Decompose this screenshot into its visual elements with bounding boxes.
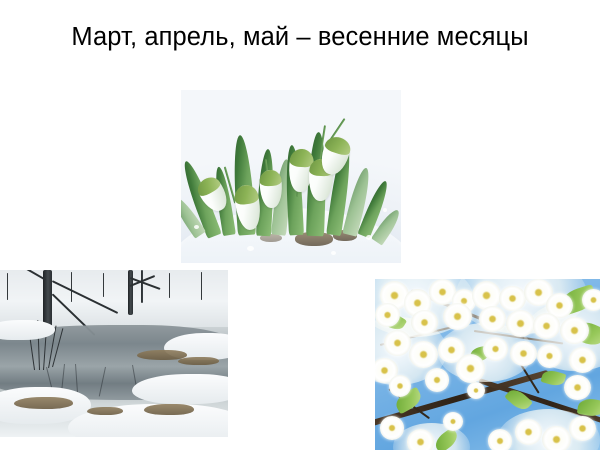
image-melting-snow-thaw-landscape[interactable] bbox=[0, 270, 228, 437]
blossom-flower bbox=[479, 306, 506, 332]
blossom-flower bbox=[542, 426, 571, 450]
green-leaf bbox=[540, 368, 565, 387]
blossom-flower bbox=[569, 347, 596, 373]
mud-patch bbox=[87, 407, 123, 415]
blossom-flower bbox=[443, 303, 472, 330]
blossom-flower bbox=[380, 416, 405, 440]
blossom-flower bbox=[569, 416, 596, 442]
blossom-flower bbox=[384, 330, 411, 356]
blossom-flower bbox=[389, 375, 412, 397]
distant-tree bbox=[71, 272, 73, 302]
snowdrop-flower-tip bbox=[259, 169, 282, 186]
blossom-flower bbox=[506, 310, 535, 337]
blossom-flower bbox=[537, 344, 562, 368]
blossom-flower bbox=[425, 368, 450, 392]
mud-patch bbox=[178, 357, 219, 365]
snow-sparkle bbox=[383, 208, 387, 212]
blossom-flower bbox=[375, 303, 400, 327]
mud-patch bbox=[144, 404, 194, 416]
distant-tree bbox=[201, 272, 203, 300]
blossom-flower bbox=[510, 341, 537, 367]
image-snowdrops-in-snow[interactable] bbox=[181, 90, 401, 263]
blossom-flower bbox=[564, 375, 591, 401]
snow-sparkle bbox=[331, 251, 336, 255]
blossom-flower bbox=[533, 313, 560, 339]
blossom-flower bbox=[483, 337, 508, 361]
slide-title: Март, апрель, май – весенние месяцы bbox=[0, 20, 600, 55]
blossom-flower bbox=[443, 412, 463, 431]
snowdrop-flower-tip bbox=[323, 134, 353, 157]
blossom-flower bbox=[472, 281, 501, 310]
blossom-flower bbox=[560, 317, 589, 344]
blossom-flower bbox=[515, 419, 542, 445]
image-white-blossom-against-blue-sky[interactable] bbox=[375, 279, 600, 450]
distant-tree bbox=[169, 273, 171, 298]
distant-tree bbox=[103, 273, 105, 296]
blossom-flower bbox=[582, 289, 600, 311]
blossom-flower bbox=[467, 382, 485, 399]
mud-patch bbox=[14, 397, 73, 409]
snow-field-background bbox=[0, 270, 228, 327]
blossom-flower bbox=[409, 341, 438, 368]
blossom-flower bbox=[499, 286, 526, 312]
blossom-flower bbox=[488, 429, 513, 450]
snow-sparkle bbox=[247, 246, 254, 251]
blossom-flower bbox=[407, 429, 434, 450]
